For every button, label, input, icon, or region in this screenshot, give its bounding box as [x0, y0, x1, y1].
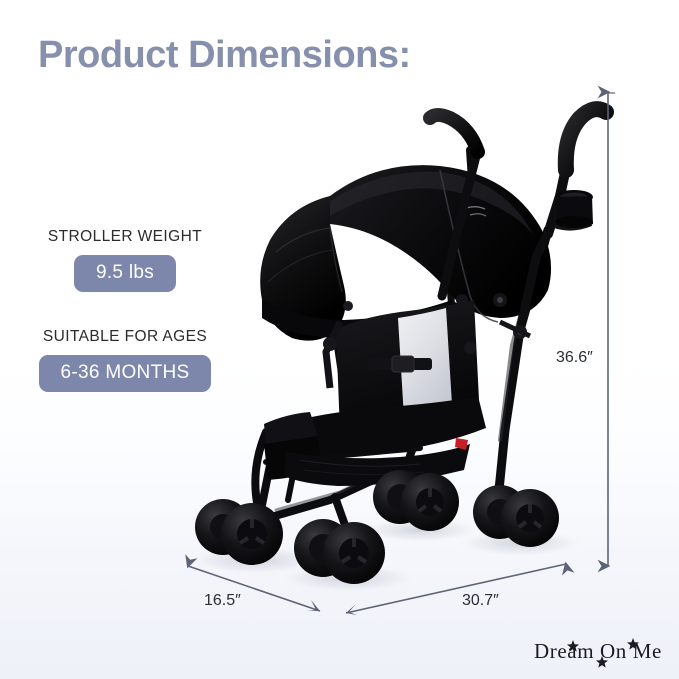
infographic-canvas: Product Dimensions: STROLLER WEIGHT 9.5 … — [0, 0, 679, 679]
brand-logo-text: Dream On Me — [534, 639, 662, 663]
brand-logo: Dream On Me — [0, 0, 679, 679]
